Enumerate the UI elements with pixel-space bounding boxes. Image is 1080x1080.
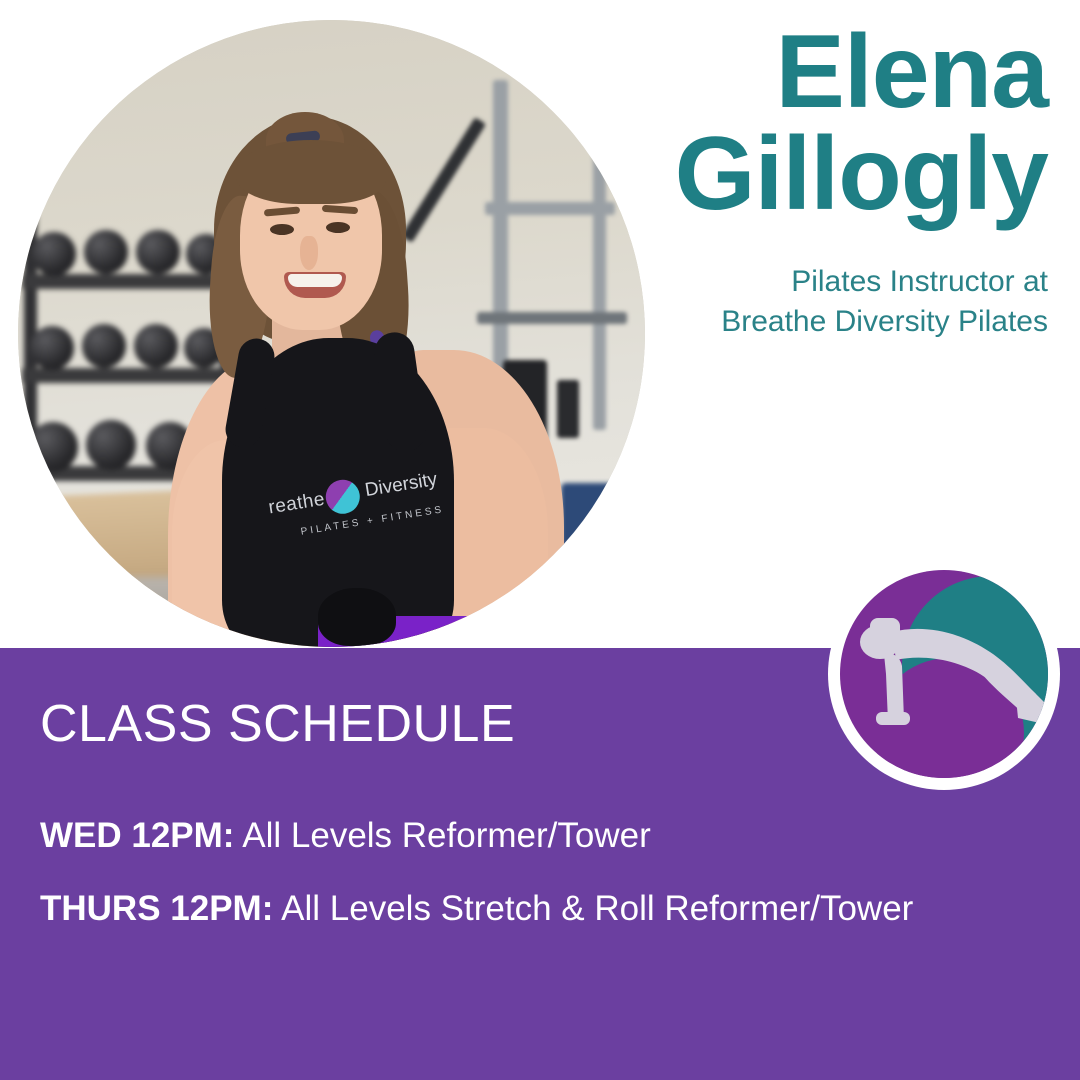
poster-canvas: reathe Diversity PILATES + FITNESS Elena… <box>0 0 1080 1080</box>
schedule-heading: CLASS SCHEDULE <box>40 694 515 754</box>
eye <box>270 224 294 235</box>
tank-knot <box>318 588 396 646</box>
schedule-row-slot: THURS 12PM: <box>40 889 273 928</box>
instructor-role: Pilates Instructor at Breathe Diversity … <box>428 262 1048 342</box>
name-last: Gillogly <box>428 124 1048 226</box>
schedule-row: THURS 12PM: All Levels Stretch & Roll Re… <box>40 891 1050 926</box>
instructor-name: Elena Gillogly <box>428 22 1048 226</box>
schedule-row-desc: All Levels Stretch & Roll Reformer/Tower <box>273 889 913 928</box>
brand-logo <box>828 558 1060 790</box>
teeth <box>288 274 342 287</box>
schedule-list: WED 12PM: All Levels Reformer/Tower THUR… <box>40 818 1050 964</box>
shirt-logo-mark-icon <box>323 477 362 516</box>
name-first: Elena <box>428 22 1048 124</box>
logo-disc <box>840 570 1048 778</box>
nose <box>300 236 318 270</box>
plank-pose-figure-icon <box>840 570 1048 778</box>
shirt-logo-word2: Diversity <box>363 469 438 502</box>
role-line-2: Breathe Diversity Pilates <box>428 302 1048 342</box>
mouth <box>284 272 346 298</box>
schedule-row-slot: WED 12PM: <box>40 816 234 855</box>
role-line-1: Pilates Instructor at <box>428 262 1048 302</box>
eye <box>326 222 350 233</box>
schedule-row-desc: All Levels Reformer/Tower <box>234 816 650 855</box>
schedule-row: WED 12PM: All Levels Reformer/Tower <box>40 818 1050 853</box>
shirt-logo-word1: reathe <box>267 489 327 520</box>
hair-fringe <box>236 140 386 204</box>
